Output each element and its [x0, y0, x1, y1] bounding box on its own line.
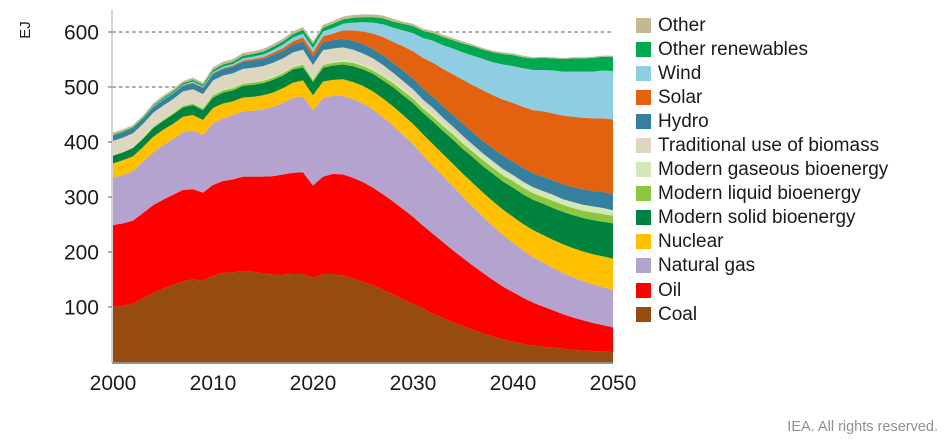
- y-axis-label: EJ: [17, 21, 34, 39]
- legend-item-label: Traditional use of biomass: [658, 136, 879, 155]
- legend-item[interactable]: Other: [636, 13, 952, 37]
- legend-item[interactable]: Solar: [636, 85, 952, 109]
- legend-item-label: Hydro: [658, 112, 709, 131]
- x-tick-label: 2030: [390, 372, 437, 395]
- legend-item[interactable]: Modern solid bioenergy: [636, 206, 952, 230]
- y-tick-label: 300: [64, 187, 99, 210]
- legend-item-label: Oil: [658, 281, 681, 300]
- ytick-labels: 100200300400500600: [64, 22, 99, 320]
- legend-item-label: Nuclear: [658, 232, 723, 251]
- areas-layer: [113, 14, 613, 362]
- legend-item-label: Coal: [658, 305, 697, 324]
- legend-swatch-icon: [636, 307, 651, 322]
- legend-item-label: Modern solid bioenergy: [658, 208, 856, 227]
- x-tick-label: 2010: [190, 372, 237, 395]
- plot-area: 100200300400500600 200020102020203020402…: [0, 0, 640, 400]
- legend-swatch-icon: [636, 234, 651, 249]
- legend-swatch-icon: [636, 66, 651, 81]
- legend-item[interactable]: Hydro: [636, 109, 952, 133]
- x-tick-label: 2000: [90, 372, 137, 395]
- legend-swatch-icon: [636, 186, 651, 201]
- y-tick-label: 500: [64, 77, 99, 100]
- y-tick-label: 400: [64, 132, 99, 155]
- y-axis-title: EJ: [17, 21, 34, 39]
- xtick-labels: 200020102020203020402050: [90, 372, 637, 395]
- legend-swatch-icon: [636, 162, 651, 177]
- chart-legend: OtherOther renewablesWindSolarHydroTradi…: [636, 13, 952, 326]
- legend-swatch-icon: [636, 42, 651, 57]
- legend-swatch-icon: [636, 258, 651, 273]
- legend-item-label: Solar: [658, 88, 702, 107]
- legend-item[interactable]: Coal: [636, 302, 952, 326]
- legend-item-label: Modern liquid bioenergy: [658, 184, 861, 203]
- legend-item-label: Other renewables: [658, 40, 808, 59]
- attribution-text: IEA. All rights reserved.: [787, 419, 938, 435]
- legend-item[interactable]: Oil: [636, 278, 952, 302]
- legend-item-label: Modern gaseous bioenergy: [658, 160, 888, 179]
- legend-item[interactable]: Modern gaseous bioenergy: [636, 158, 952, 182]
- legend-swatch-icon: [636, 18, 651, 33]
- legend-item[interactable]: Wind: [636, 61, 952, 85]
- y-tick-label: 200: [64, 242, 99, 265]
- legend-swatch-icon: [636, 114, 651, 129]
- chart-figure: 100200300400500600 200020102020203020402…: [0, 0, 952, 447]
- legend-swatch-icon: [636, 210, 651, 225]
- legend-swatch-icon: [636, 138, 651, 153]
- stacked-area-chart: 100200300400500600 200020102020203020402…: [0, 0, 640, 400]
- legend-item[interactable]: Other renewables: [636, 37, 952, 61]
- x-tick-label: 2020: [290, 372, 337, 395]
- x-tick-label: 2040: [490, 372, 537, 395]
- legend-item-label: Natural gas: [658, 256, 755, 275]
- legend-item[interactable]: Nuclear: [636, 230, 952, 254]
- legend-swatch-icon: [636, 283, 651, 298]
- legend-item[interactable]: Modern liquid bioenergy: [636, 182, 952, 206]
- legend-item-label: Other: [658, 16, 706, 35]
- legend-item[interactable]: Traditional use of biomass: [636, 133, 952, 157]
- y-tick-label: 100: [64, 297, 99, 320]
- y-tick-label: 600: [64, 22, 99, 45]
- legend-swatch-icon: [636, 90, 651, 105]
- x-tick-label: 2050: [590, 372, 637, 395]
- legend-item[interactable]: Natural gas: [636, 254, 952, 278]
- legend-item-label: Wind: [658, 64, 701, 83]
